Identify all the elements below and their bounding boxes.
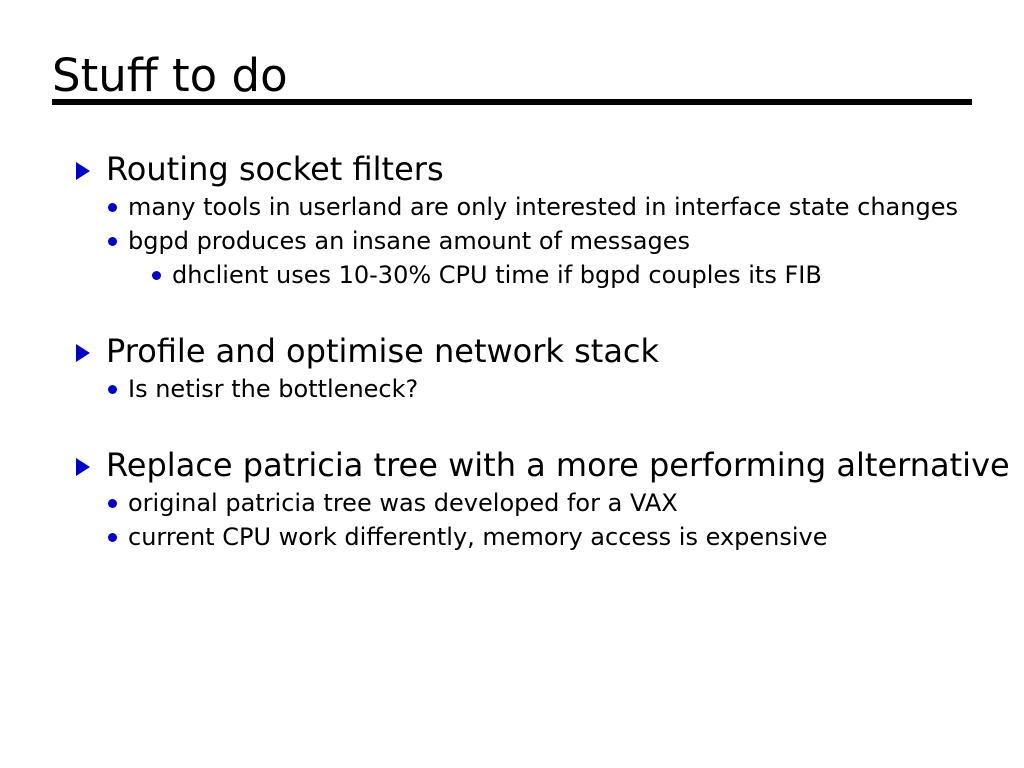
blue-triangle-bullet-icon: [76, 458, 90, 476]
blue-round-bullet-icon: [108, 203, 117, 212]
bullet-group: Replace patricia tree with a more perfor…: [0, 444, 1024, 554]
bullet-level2: Is netisr the bottleneck?: [106, 372, 1024, 406]
bullet-level2-label: many tools in userland are only interest…: [128, 190, 1024, 224]
bullet-level2: current CPU work differently, memory acc…: [106, 520, 1024, 554]
bullet-level1-label: Replace patricia tree with a more perfor…: [106, 444, 1024, 486]
bullet-level3: dhclient uses 10-30% CPU time if bgpd co…: [150, 258, 1024, 292]
bullet-level2-label: bgpd produces an insane amount of messag…: [128, 224, 1024, 258]
blue-round-bullet-icon: [152, 271, 161, 280]
bullet-level1: Profile and optimise network stack: [76, 330, 1024, 372]
page-title: Stuff to do: [52, 50, 972, 102]
bullet-group: Routing socket filters many tools in use…: [0, 148, 1024, 292]
blue-triangle-bullet-icon: [76, 162, 90, 180]
bullet-level2-label: Is netisr the bottleneck?: [128, 372, 1024, 406]
bullet-level1-label: Profile and optimise network stack: [106, 330, 1024, 372]
blue-triangle-bullet-icon: [76, 344, 90, 362]
bullet-level2: many tools in userland are only interest…: [106, 190, 1024, 224]
blue-round-bullet-icon: [108, 533, 117, 542]
blue-round-bullet-icon: [108, 385, 117, 394]
slide: Stuff to do Routing socket filters many …: [0, 0, 1024, 768]
bullet-level1: Replace patricia tree with a more perfor…: [76, 444, 1024, 486]
title-underline-rule: [52, 99, 972, 105]
bullet-level2: original patricia tree was developed for…: [106, 486, 1024, 520]
bullet-level1: Routing socket filters: [76, 148, 1024, 190]
bullet-level2-label: current CPU work differently, memory acc…: [128, 520, 1024, 554]
bullet-level2-label: original patricia tree was developed for…: [128, 486, 1024, 520]
blue-round-bullet-icon: [108, 237, 117, 246]
bullet-group: Profile and optimise network stack Is ne…: [0, 330, 1024, 406]
bullet-level3-label: dhclient uses 10-30% CPU time if bgpd co…: [172, 258, 1024, 292]
slide-title-block: Stuff to do: [52, 50, 972, 102]
bullet-level2: bgpd produces an insane amount of messag…: [106, 224, 1024, 258]
slide-body: Routing socket filters many tools in use…: [0, 148, 1024, 554]
blue-round-bullet-icon: [108, 499, 117, 508]
bullet-level1-label: Routing socket filters: [106, 148, 1024, 190]
